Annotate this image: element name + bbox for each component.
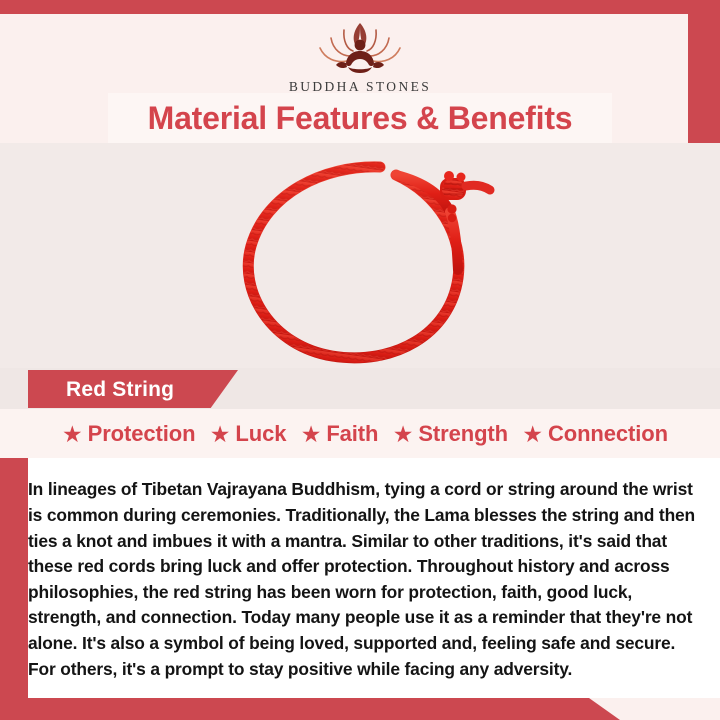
feature-item-connection: ★ Connection xyxy=(522,421,668,447)
star-icon: ★ xyxy=(301,423,322,446)
feature-item-faith: ★ Faith xyxy=(301,421,379,447)
description-text: In lineages of Tibetan Vajrayana Buddhis… xyxy=(28,477,696,682)
star-icon: ★ xyxy=(62,423,83,446)
feature-label: Protection xyxy=(88,421,196,447)
feature-label: Luck xyxy=(235,421,286,447)
brand-logo: BUDDHA STONES xyxy=(0,20,720,95)
feature-item-luck: ★ Luck xyxy=(210,421,287,447)
product-image-red-string-bracelet xyxy=(228,160,500,365)
feature-label: Strength xyxy=(418,421,508,447)
bottom-accent-band xyxy=(0,698,620,720)
star-icon: ★ xyxy=(393,423,414,446)
feature-item-strength: ★ Strength xyxy=(393,421,508,447)
page-title: Material Features & Benefits xyxy=(108,95,612,141)
feature-label: Faith xyxy=(326,421,378,447)
features-list: ★ Protection ★ Luck ★ Faith ★ Strength ★… xyxy=(28,415,700,453)
feature-item-protection: ★ Protection xyxy=(62,421,195,447)
section-banner-label: Red String xyxy=(66,371,174,409)
brand-name: BUDDHA STONES xyxy=(0,79,720,95)
lotus-meditation-icon xyxy=(0,20,720,76)
poster: BUDDHA STONES Material Features & Benefi… xyxy=(0,0,720,720)
star-icon: ★ xyxy=(522,423,543,446)
feature-label: Connection xyxy=(548,421,668,447)
star-icon: ★ xyxy=(210,423,231,446)
top-accent-band xyxy=(0,0,720,14)
